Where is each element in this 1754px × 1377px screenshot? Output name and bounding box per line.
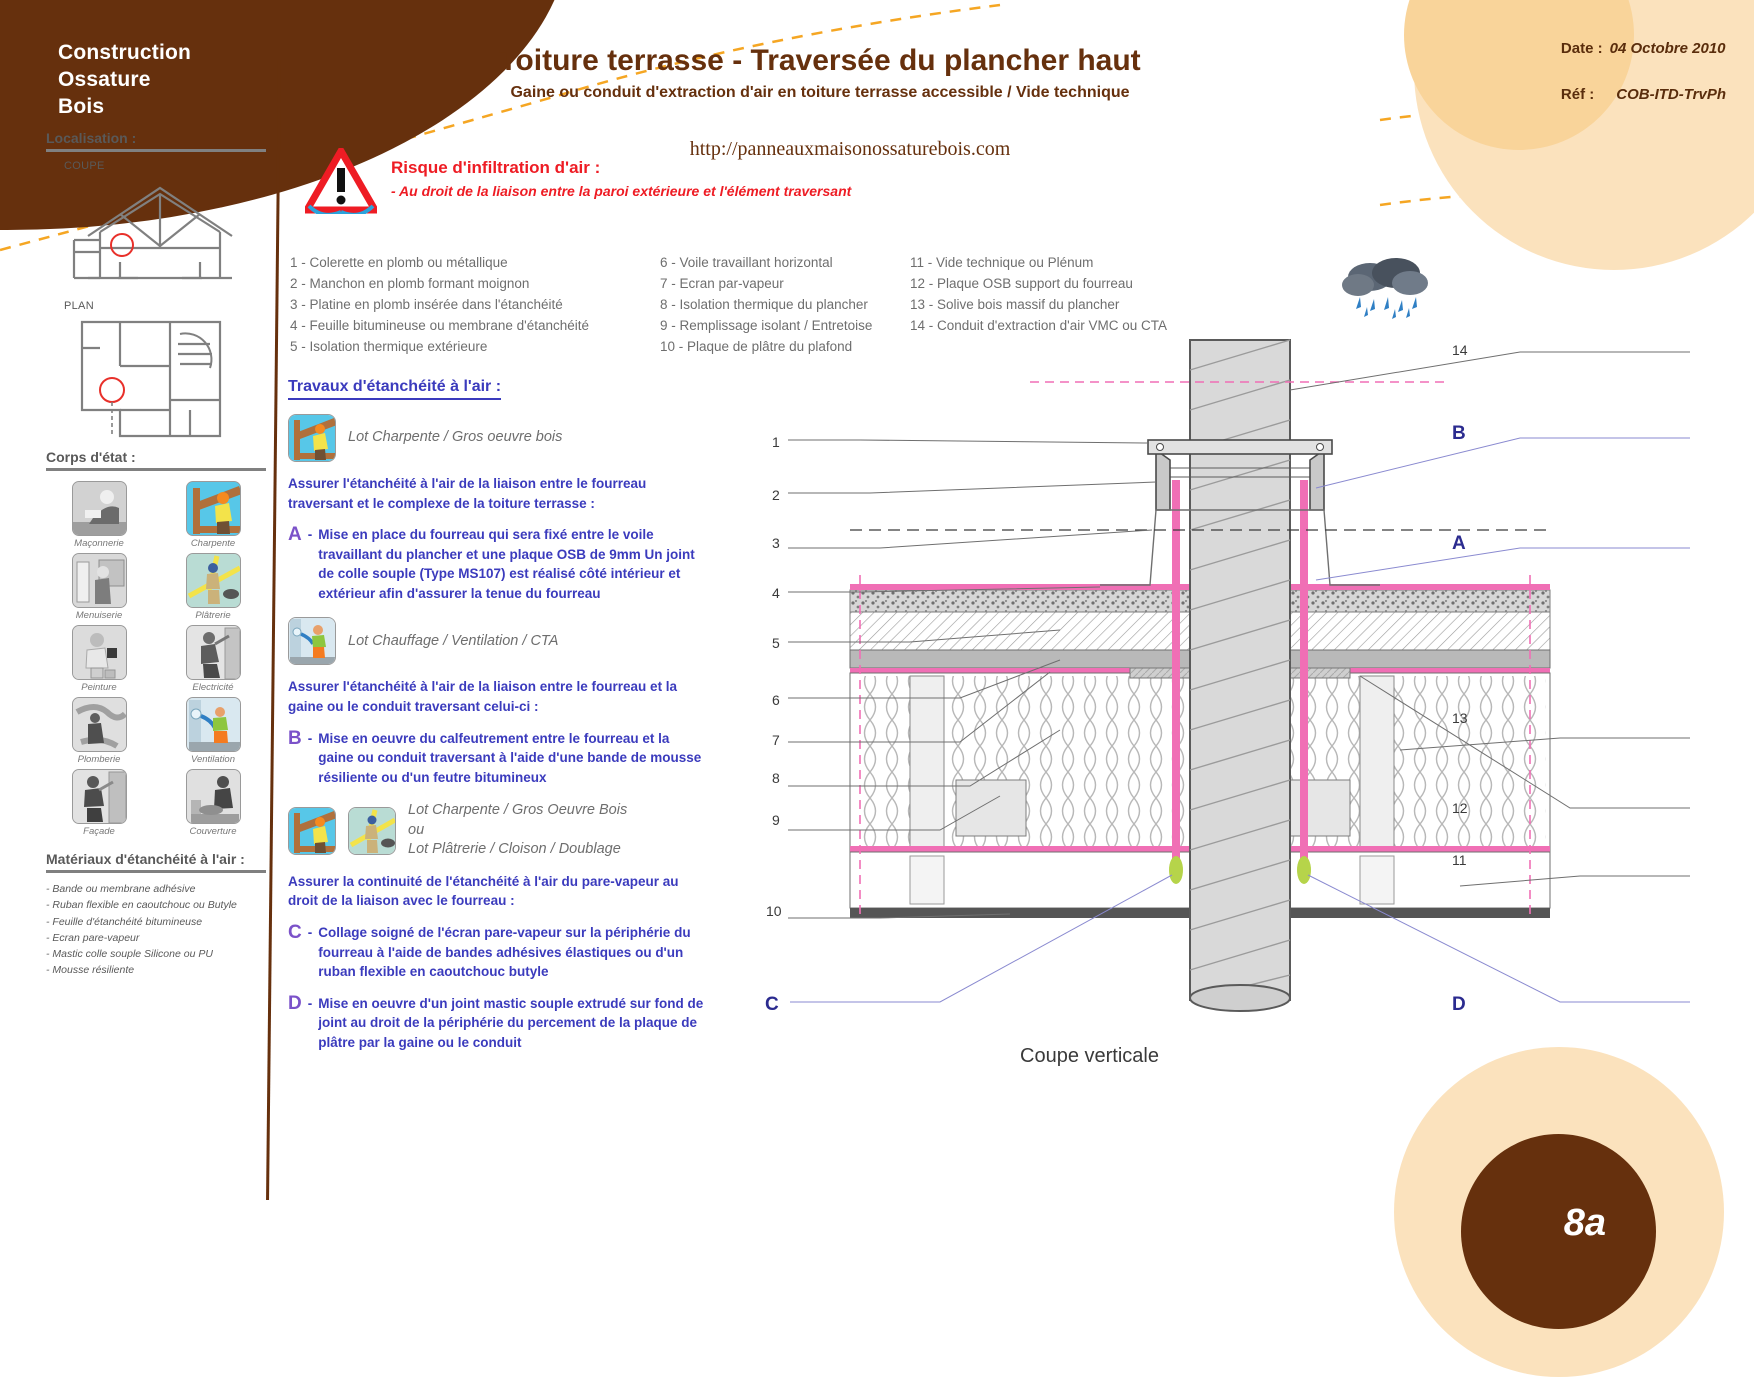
legend-item: 2 - Manchon en plomb formant moignon (290, 276, 529, 291)
material-item: - Feuille d'étanchéité bitumineuse (46, 914, 266, 930)
works-section: Travaux d'étanchéité à l'air : Lot Charp… (288, 378, 708, 1052)
callout-12: 12 (1452, 800, 1468, 816)
rain-cloud-icon (1338, 255, 1433, 325)
drawing-caption: Coupe verticale (1020, 1045, 1159, 1068)
trade-item-peinture[interactable]: Peinture (46, 625, 152, 693)
step-letter: A (288, 525, 302, 603)
callout-10: 10 (766, 903, 782, 919)
page-number-badge (1461, 1134, 1656, 1329)
plumber-icon (72, 697, 127, 752)
ventilation-icon (288, 617, 336, 665)
page-title: Toiture terrasse - Traversée du plancher… (300, 44, 1340, 78)
legend-item: 3 - Platine en plomb insérée dans l'étan… (290, 297, 563, 312)
callout-4: 4 (772, 585, 780, 601)
warning-triangle-icon (305, 148, 377, 214)
date-row: Date :04 Octobre 2010 (1561, 40, 1726, 57)
callout-14: 14 (1452, 342, 1468, 358)
plasterer-icon (186, 553, 241, 608)
works-block-c: Lot Charpente / Gros Oeuvre Bois ou Lot … (288, 801, 708, 1052)
date-value: 04 Octobre 2010 (1610, 40, 1726, 57)
callout-8: 8 (772, 770, 780, 786)
trade-item-charpente[interactable]: Charpente (160, 481, 266, 549)
works-intro: Assurer la continuité de l'étanchéité à … (288, 872, 708, 911)
risk-title: Risque d'infiltration d'air : (391, 158, 851, 178)
ref-value: COB-ITD-TrvPh (1616, 86, 1726, 103)
facade-icon (72, 769, 127, 824)
material-item: - Mastic colle souple Silicone ou PU (46, 946, 266, 962)
step-d: D - Mise en oeuvre d'un joint mastic sou… (288, 994, 708, 1053)
step-c: C - Collage soigné de l'écran pare-vapeu… (288, 923, 708, 982)
step-text: Mise en place du fourreau qui sera fixé … (318, 525, 708, 603)
callout-5: 5 (772, 635, 780, 651)
step-b: B - Mise en oeuvre du calfeutrement entr… (288, 729, 708, 788)
localisation-heading: Localisation : (46, 130, 266, 152)
trade-label: Maçonnerie (46, 538, 152, 549)
callout-letter-d: D (1452, 994, 1466, 1016)
trade-item-electricite[interactable]: Electricité (160, 625, 266, 693)
lot-row: Lot Charpente / Gros Oeuvre Bois ou Lot … (288, 801, 708, 860)
trade-item-couverture[interactable]: Couverture (160, 769, 266, 837)
materials-list: - Bande ou membrane adhésive - Ruban fle… (46, 881, 266, 979)
brand-line-3: Bois (58, 94, 191, 121)
legend-list: 1 - Colerette en plomb ou métallique 2 -… (290, 252, 1230, 357)
corps-etat-heading: Corps d'état : (46, 449, 266, 471)
trade-item-menuiserie[interactable]: Menuiserie (46, 553, 152, 621)
step-text: Mise en oeuvre du calfeutrement entre le… (318, 729, 708, 788)
callout-6: 6 (772, 692, 780, 708)
trade-label: Electricité (160, 682, 266, 693)
electrician-icon (186, 625, 241, 680)
callout-letter-b: B (1452, 423, 1466, 445)
material-item: - Mousse résiliente (46, 962, 266, 978)
legend-item: 8 - Isolation thermique du plancher (660, 297, 868, 312)
legend-column-1: 1 - Colerette en plomb ou métallique 2 -… (290, 252, 660, 357)
carpenter-icon (186, 481, 241, 536)
legend-item: 13 - Solive bois massif du plancher (910, 297, 1119, 312)
joiner-icon (72, 553, 127, 608)
legend-item: 12 - Plaque OSB support du fourreau (910, 276, 1133, 291)
step-a: A - Mise en place du fourreau qui sera f… (288, 525, 708, 603)
trade-label: Plomberie (46, 754, 152, 765)
mason-icon (72, 481, 127, 536)
brand-line-2: Ossature (58, 67, 191, 94)
carpenter-icon (288, 414, 336, 462)
callout-letter-c: C (765, 994, 779, 1016)
coupe-diagram (60, 174, 260, 289)
legend-item: 4 - Feuille bitumineuse ou membrane d'ét… (290, 318, 589, 333)
callout-1: 1 (772, 434, 780, 450)
step-dash: - (308, 994, 313, 1053)
step-dash: - (308, 729, 313, 788)
callout-7: 7 (772, 732, 780, 748)
ref-label: Réf : (1561, 86, 1594, 103)
plan-label: PLAN (64, 300, 266, 312)
brand-title: Construction Ossature Bois (58, 40, 191, 121)
legend-item: 14 - Conduit d'extraction d'air VMC ou C… (910, 318, 1167, 333)
legend-item: 7 - Ecran par-vapeur (660, 276, 784, 291)
step-text: Mise en oeuvre d'un joint mastic souple … (318, 994, 708, 1053)
legend-item: 1 - Colerette en plomb ou métallique (290, 255, 508, 270)
step-dash: - (308, 923, 313, 982)
ventilation-icon (186, 697, 241, 752)
brand-line-1: Construction (58, 40, 191, 67)
legend-item: 11 - Vide technique ou Plénum (910, 255, 1093, 270)
roofer-icon (186, 769, 241, 824)
plasterer-icon (348, 807, 396, 855)
legend-item: 5 - Isolation thermique extérieure (290, 339, 487, 354)
ref-row: Réf :COB-ITD-TrvPh (1561, 86, 1726, 103)
works-block-a: Lot Charpente / Gros oeuvre bois Assurer… (288, 414, 708, 603)
works-block-b: Lot Chauffage / Ventilation / CTA Assure… (288, 617, 708, 787)
trade-label: Façade (46, 826, 152, 837)
risk-warning: Risque d'infiltration d'air : - Au droit… (305, 148, 851, 214)
lot-label: Lot Charpente / Gros Oeuvre Bois ou Lot … (408, 801, 627, 860)
trade-label: Plâtrerie (160, 610, 266, 621)
date-ref-block: Date :04 Octobre 2010 Réf :COB-ITD-TrvPh (1561, 40, 1726, 132)
trade-grid: Maçonnerie Charpente Menuiserie Plâtreri… (46, 481, 266, 837)
lot-label: Lot Chauffage / Ventilation / CTA (348, 632, 558, 652)
step-dash: - (308, 525, 313, 603)
works-intro: Assurer l'étanchéité à l'air de la liais… (288, 474, 708, 513)
page-number: 8a (1564, 1202, 1606, 1245)
legend-item: 10 - Plaque de plâtre du plafond (660, 339, 852, 354)
sidebar: Localisation : COUPE PLAN (46, 130, 266, 979)
callout-13: 13 (1452, 710, 1468, 726)
legend-column-2: 6 - Voile travaillant horizontal 7 - Ecr… (660, 252, 910, 357)
materials-heading: Matériaux d'étanchéité à l'air : (46, 851, 266, 873)
callout-letter-a: A (1452, 533, 1466, 555)
works-heading: Travaux d'étanchéité à l'air : (288, 378, 501, 400)
trade-item-platrerie[interactable]: Plâtrerie (160, 553, 266, 621)
material-item: - Bande ou membrane adhésive (46, 881, 266, 897)
lot-row: Lot Chauffage / Ventilation / CTA (288, 617, 708, 665)
trade-item-facade[interactable]: Façade (46, 769, 152, 837)
trade-label: Charpente (160, 538, 266, 549)
risk-detail: - Au droit de la liaison entre la paroi … (391, 183, 851, 199)
trade-label: Menuiserie (46, 610, 152, 621)
coupe-label: COUPE (64, 160, 266, 172)
vertical-divider (266, 60, 281, 1200)
callout-11: 11 (1452, 852, 1467, 868)
callout-9: 9 (772, 812, 780, 828)
trade-label: Ventilation (160, 754, 266, 765)
legend-item: 6 - Voile travaillant horizontal (660, 255, 833, 270)
painter-icon (72, 625, 127, 680)
trade-label: Peinture (46, 682, 152, 693)
material-item: - Ruban flexible en caoutchouc ou Butyle (46, 897, 266, 913)
lot-row: Lot Charpente / Gros oeuvre bois (288, 414, 708, 462)
callout-2: 2 (772, 487, 780, 503)
date-label: Date : (1561, 40, 1603, 57)
trade-label: Couverture (160, 826, 266, 837)
plan-diagram (60, 314, 260, 444)
trade-item-maconnerie[interactable]: Maçonnerie (46, 481, 152, 549)
works-intro: Assurer l'étanchéité à l'air de la liais… (288, 677, 708, 716)
callout-3: 3 (772, 535, 780, 551)
step-letter: C (288, 923, 302, 982)
trade-item-ventilation[interactable]: Ventilation (160, 697, 266, 765)
trade-item-plomberie[interactable]: Plomberie (46, 697, 152, 765)
page-subtitle: Gaine ou conduit d'extraction d'air en t… (300, 84, 1340, 102)
section-drawing (760, 330, 1720, 1090)
step-letter: B (288, 729, 302, 788)
legend-column-3: 11 - Vide technique ou Plénum 12 - Plaqu… (910, 252, 1230, 357)
step-letter: D (288, 994, 302, 1053)
lot-label: Lot Charpente / Gros oeuvre bois (348, 428, 562, 448)
material-item: - Ecran pare-vapeur (46, 930, 266, 946)
carpenter-icon (288, 807, 336, 855)
step-text: Collage soigné de l'écran pare-vapeur su… (318, 923, 708, 982)
legend-item: 9 - Remplissage isolant / Entretoise (660, 318, 872, 333)
